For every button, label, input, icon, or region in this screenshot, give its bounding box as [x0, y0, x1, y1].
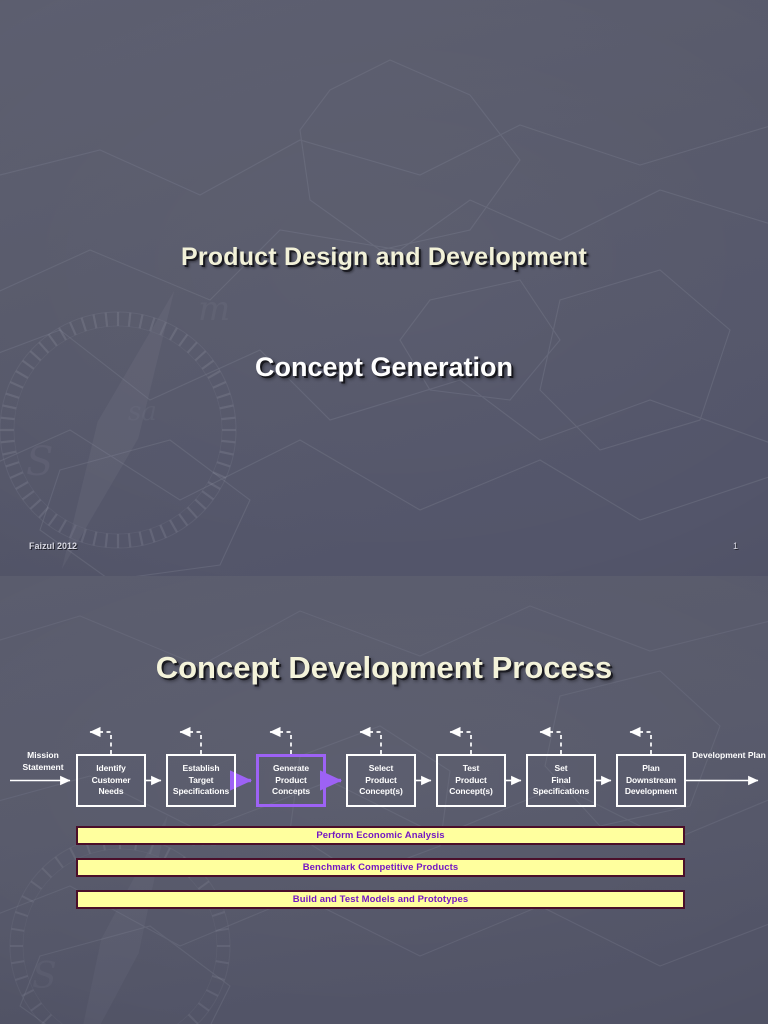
process-output-label-line1: Development: [692, 750, 745, 760]
node-line-3: Specifications: [173, 786, 229, 798]
activity-bar-benchmark-competitive-products[interactable]: Benchmark Competitive Products: [76, 858, 685, 877]
footer-author: Faizul 2012: [29, 541, 77, 551]
compass-map-background-texture: S sa m: [0, 0, 768, 576]
process-node-identify-customer-needs[interactable]: Identify Customer Needs: [76, 754, 146, 807]
feedback-arrow-6: [549, 732, 561, 754]
svg-text:sa: sa: [128, 397, 157, 427]
concept-development-process-diagram: Mission Statement Development Plan Ident…: [0, 722, 768, 912]
activity-bar-label: Build and Test Models and Prototypes: [293, 894, 469, 905]
node-line-3: Specifications: [533, 786, 589, 798]
node-line-2: Product: [359, 775, 402, 787]
node-line-2: Downstream: [625, 775, 677, 787]
process-node-establish-target-specifications[interactable]: Establish Target Specifications: [166, 754, 236, 807]
svg-text:S: S: [32, 956, 57, 997]
node-line-3: Concept(s): [359, 786, 402, 798]
page-title: Product Design and Development: [0, 243, 768, 272]
feedback-arrow-5: [459, 732, 471, 754]
process-node-generate-product-concepts[interactable]: Generate Product Concepts: [256, 754, 326, 807]
process-node-select-product-concepts[interactable]: Select Product Concept(s): [346, 754, 416, 807]
activity-bar-label: Perform Economic Analysis: [316, 830, 444, 841]
node-line-3: Needs: [92, 786, 131, 798]
slide-title: S sa m Product Design and Development Co…: [0, 0, 768, 576]
process-output-label: Development Plan: [690, 750, 768, 762]
node-line-2: Final: [533, 775, 589, 787]
feedback-arrow-4: [369, 732, 381, 754]
process-input-label-line1: Mission: [27, 750, 59, 760]
activity-bar-label: Benchmark Competitive Products: [303, 862, 459, 873]
node-line-3: Concept(s): [449, 786, 492, 798]
node-line-1: Select: [359, 763, 402, 775]
svg-text:m: m: [198, 289, 230, 329]
feedback-arrow-3: [279, 732, 291, 754]
process-node-set-final-specifications[interactable]: Set Final Specifications: [526, 754, 596, 807]
process-input-label: Mission Statement: [6, 750, 80, 773]
page-number: 1: [733, 541, 738, 551]
node-line-2: Product: [272, 775, 310, 787]
process-input-label-line2: Statement: [22, 762, 63, 772]
feedback-arrow-2: [189, 732, 201, 754]
process-connectors: [0, 722, 768, 912]
node-line-3: Development: [625, 786, 677, 798]
node-line-3: Concepts: [272, 786, 310, 798]
node-line-2: Customer: [92, 775, 131, 787]
node-line-1: Set: [533, 763, 589, 775]
node-line-2: Target: [173, 775, 229, 787]
page-title-concept-development-process: Concept Development Process: [0, 650, 768, 686]
node-line-1: Plan: [625, 763, 677, 775]
page-subtitle: Concept Generation: [0, 352, 768, 383]
activity-bar-perform-economic-analysis[interactable]: Perform Economic Analysis: [76, 826, 685, 845]
slide-vignette: [0, 0, 768, 576]
process-output-label-line2: Plan: [748, 750, 766, 760]
activity-bar-build-and-test-models-and-prototypes[interactable]: Build and Test Models and Prototypes: [76, 890, 685, 909]
svg-text:S: S: [26, 439, 53, 485]
feedback-arrow-group: [99, 732, 651, 754]
process-node-plan-downstream-development[interactable]: Plan Downstream Development: [616, 754, 686, 807]
node-line-1: Identify: [92, 763, 131, 775]
node-line-2: Product: [449, 775, 492, 787]
node-line-1: Test: [449, 763, 492, 775]
feedback-arrow-1: [99, 732, 111, 754]
presentation-deck: S sa m Product Design and Development Co…: [0, 0, 768, 1024]
node-line-1: Generate: [272, 763, 310, 775]
node-line-1: Establish: [173, 763, 229, 775]
process-node-test-product-concepts[interactable]: Test Product Concept(s): [436, 754, 506, 807]
feedback-arrow-7: [639, 732, 651, 754]
